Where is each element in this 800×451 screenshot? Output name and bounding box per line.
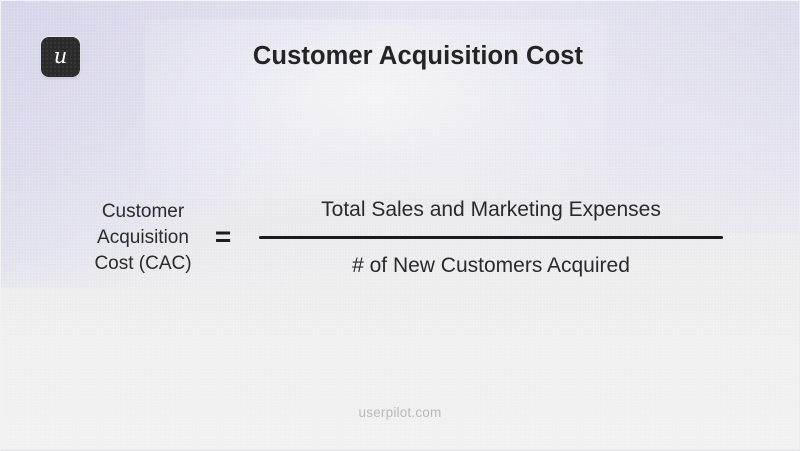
footer-attribution: userpilot.com — [1, 405, 799, 420]
fraction-bar — [259, 236, 723, 239]
formula-left-term-line-1: Customer — [79, 199, 207, 225]
logo-glyph-letter: u — [54, 46, 68, 67]
cac-formula: Customer Acquisition Cost (CAC) = Total … — [79, 197, 723, 280]
formula-numerator: Total Sales and Marketing Expenses — [259, 197, 723, 223]
formula-fraction: Total Sales and Marketing Expenses # of … — [239, 197, 723, 280]
page-title: Customer Acquisition Cost — [1, 42, 799, 71]
slide-canvas: u Customer Acquisition Cost Customer Acq… — [0, 0, 800, 451]
formula-left-term-line-2: Acquisition — [79, 225, 207, 251]
equals-sign: = — [207, 223, 239, 251]
formula-denominator: # of New Customers Acquired — [259, 253, 723, 279]
slide-content: u Customer Acquisition Cost Customer Acq… — [1, 1, 799, 450]
formula-left-term-line-3: Cost (CAC) — [79, 251, 207, 277]
formula-left-term: Customer Acquisition Cost (CAC) — [79, 199, 207, 277]
